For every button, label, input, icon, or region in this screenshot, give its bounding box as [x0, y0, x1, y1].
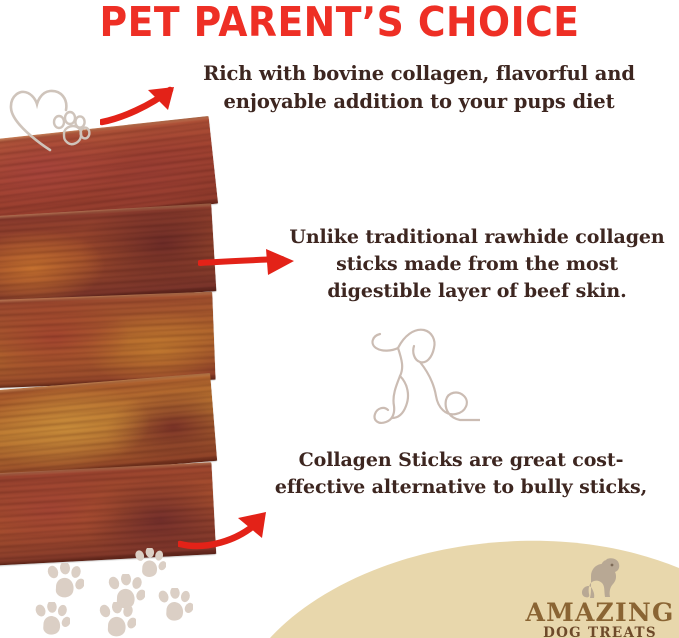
- paw-print-icon: [132, 548, 166, 580]
- paw-print-icon: [155, 588, 193, 624]
- benefit-text-3: Collagen Sticks are great cost-effective…: [266, 447, 656, 501]
- page-title: PET PARENT’S CHOICE: [27, 0, 652, 46]
- benefit-text-1: Rich with bovine collagen, flavorful and…: [178, 60, 660, 115]
- collagen-stick: [0, 292, 216, 389]
- logo-tagline: DOG TREATS: [524, 627, 676, 638]
- curved-arrow-right-up-icon: [178, 498, 288, 550]
- paw-print-icon: [32, 602, 70, 638]
- dog-outline-icon: [358, 318, 480, 440]
- stick-texture: [0, 292, 216, 389]
- product-infographic-canvas: PET PARENT’S CHOICE Rich with bovine col…: [0, 0, 679, 638]
- heart-with-paw-icon: [6, 86, 92, 156]
- paw-print-icon: [52, 566, 92, 604]
- sitting-dog-silhouette-icon: [571, 556, 629, 602]
- paw-print-icon: [96, 602, 136, 638]
- collagen-stick: [0, 203, 216, 304]
- logo-brand-name: AMAZING: [524, 600, 676, 625]
- benefit-text-2: Unlike traditional rawhide collagen stic…: [282, 224, 672, 305]
- brand-logo: AMAZING DOG TREATS: [524, 556, 676, 638]
